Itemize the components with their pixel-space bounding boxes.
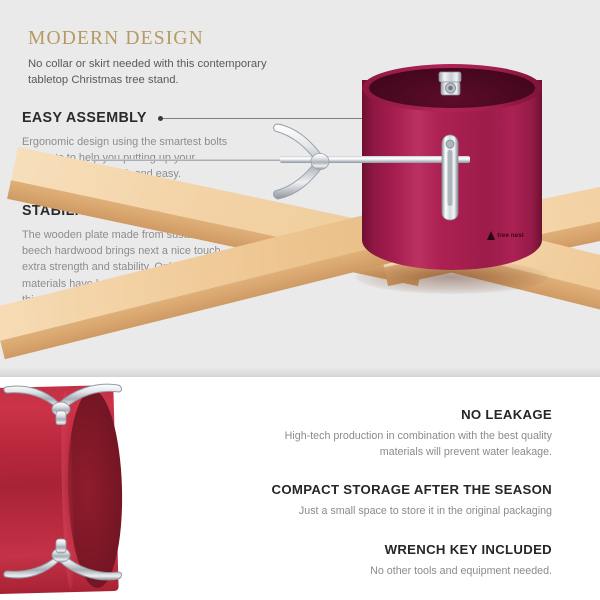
bottom-feature-compact-storage: COMPACT STORAGE AFTER THE SEASON Just a … [222,482,552,520]
brand-logo: tree nest [487,231,524,240]
bottom-feature-body: No other tools and equipment needed. [252,564,552,580]
brand-logo-text: tree nest [497,233,524,239]
hex-bolt-icon [436,70,470,100]
bottom-feature-title: WRENCH KEY INCLUDED [252,542,552,557]
infographic-page: MODERN DESIGN No collar or skirt needed … [0,0,600,600]
wing-bolt-bottom-icon [2,535,124,587]
chrome-bracket-icon [440,134,460,222]
product-closeup-image [0,377,150,600]
bottom-feature-no-leakage: NO LEAKAGE High-tech production in combi… [252,407,552,460]
wing-bolt-top-icon [2,377,124,425]
headline-body: No collar or skirt needed with this cont… [28,57,298,88]
bottom-feature-title: COMPACT STORAGE AFTER THE SEASON [222,482,552,497]
bottom-feature-wrench-key: WRENCH KEY INCLUDED No other tools and e… [252,542,552,580]
bottom-feature-body: Just a small space to store it in the or… [222,504,552,520]
bottom-feature-title: NO LEAKAGE [252,407,552,422]
triangle-tree-icon [487,231,495,240]
bottom-feature-body: High-tech production in combination with… [252,429,552,460]
burgundy-cylinder: tree nest [362,64,542,284]
wing-handle-icon [270,118,342,204]
headline-block: MODERN DESIGN No collar or skirt needed … [28,28,298,88]
product-hero-image: tree nest [270,40,600,377]
bottom-panel: NO LEAKAGE High-tech production in combi… [0,377,600,600]
page-title: MODERN DESIGN [28,28,298,50]
threaded-rod-far-left [92,159,287,161]
top-panel: MODERN DESIGN No collar or skirt needed … [0,0,600,377]
feature-title: EASY ASSEMBLY [22,110,147,126]
